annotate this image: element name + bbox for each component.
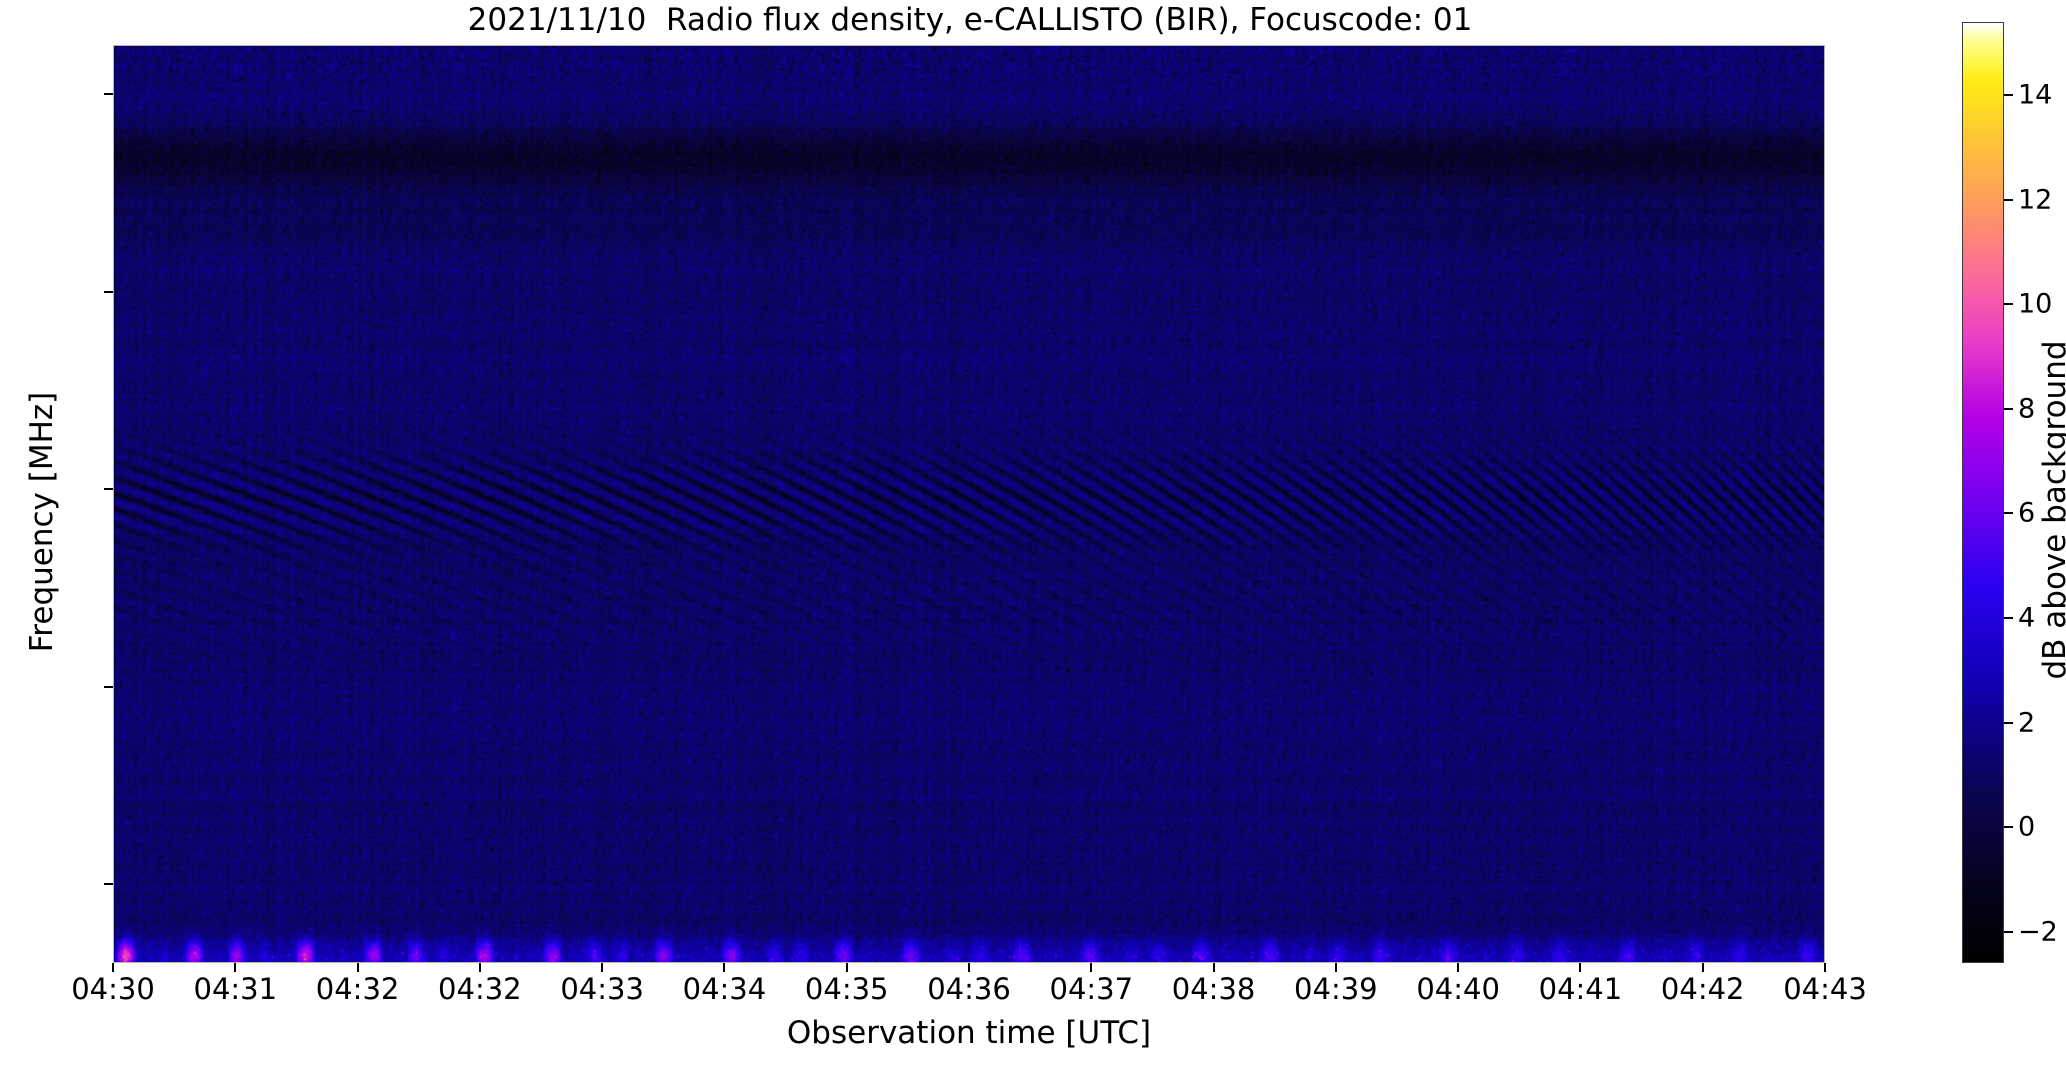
x-tick-label: 04:41 [1539, 972, 1623, 1006]
x-axis-label: Observation time [UTC] [113, 1015, 1825, 1051]
colorbar-tick-label: 6 [2018, 498, 2035, 529]
colorbar-tick-mark [2004, 722, 2013, 724]
x-tick-mark [479, 963, 481, 972]
x-tick-mark [1213, 963, 1215, 972]
colorbar-tick-label: 8 [2018, 393, 2035, 424]
colorbar-tick-mark [2004, 408, 2013, 410]
colorbar-tick-mark [2004, 617, 2013, 619]
colorbar-tick-mark [2004, 94, 2013, 96]
x-tick-label: 04:31 [193, 972, 277, 1006]
x-tick-label: 04:36 [927, 972, 1011, 1006]
x-tick-mark [1579, 963, 1581, 972]
colorbar-tick-label: 10 [2018, 289, 2052, 320]
x-tick-label: 04:38 [1172, 972, 1256, 1006]
x-tick-label: 04:35 [805, 972, 889, 1006]
x-tick-mark [1090, 963, 1092, 972]
colorbar-tick-mark [2004, 303, 2013, 305]
x-tick-label: 04:32 [438, 972, 522, 1006]
x-tick-label: 04:33 [560, 972, 644, 1006]
x-tick-label: 04:42 [1661, 972, 1745, 1006]
colorbar-tick-mark [2004, 931, 2013, 933]
x-tick-mark [112, 963, 114, 972]
x-tick-label: 04:37 [1049, 972, 1133, 1006]
colorbar-tick-mark [2004, 512, 2013, 514]
spectrogram-canvas [114, 46, 1824, 962]
x-tick-mark [1335, 963, 1337, 972]
colorbar-tick-mark [2004, 199, 2013, 201]
x-tick-label: 04:34 [683, 972, 767, 1006]
y-axis-label: Frequency [MHz] [24, 322, 60, 722]
y-tick-mark [104, 291, 113, 293]
x-tick-label: 04:40 [1416, 972, 1500, 1006]
colorbar-tick-label: 12 [2018, 184, 2052, 215]
colorbar-tick-label: 14 [2018, 80, 2052, 111]
colorbar-label: dB above background [2037, 270, 2066, 750]
y-tick-mark [104, 686, 113, 688]
x-tick-mark [968, 963, 970, 972]
x-tick-label: 04:39 [1294, 972, 1378, 1006]
x-tick-label: 04:32 [316, 972, 400, 1006]
colorbar-tick-label: 0 [2018, 812, 2035, 843]
radio-spectrogram-figure: 2021/11/10 Radio flux density, e-CALLIST… [0, 0, 2066, 1067]
page-title: 2021/11/10 Radio flux density, e-CALLIST… [0, 2, 1940, 38]
x-tick-label: 04:43 [1783, 972, 1867, 1006]
x-tick-mark [234, 963, 236, 972]
x-tick-label: 04:30 [71, 972, 155, 1006]
colorbar-tick-mark [2004, 826, 2013, 828]
x-tick-mark [1824, 963, 1826, 972]
y-tick-mark [104, 883, 113, 885]
colorbar-tick-label: −2 [2018, 916, 2058, 947]
x-tick-mark [1702, 963, 1704, 972]
spectrogram-plot-area [113, 45, 1825, 963]
x-tick-mark [723, 963, 725, 972]
colorbar-gradient [1963, 23, 2003, 962]
y-tick-mark [104, 93, 113, 95]
colorbar [1962, 22, 2004, 963]
x-tick-mark [846, 963, 848, 972]
x-tick-mark [601, 963, 603, 972]
y-tick-mark [104, 488, 113, 490]
x-tick-mark [357, 963, 359, 972]
colorbar-tick-label: 2 [2018, 707, 2035, 738]
colorbar-tick-label: 4 [2018, 602, 2035, 633]
x-tick-mark [1457, 963, 1459, 972]
